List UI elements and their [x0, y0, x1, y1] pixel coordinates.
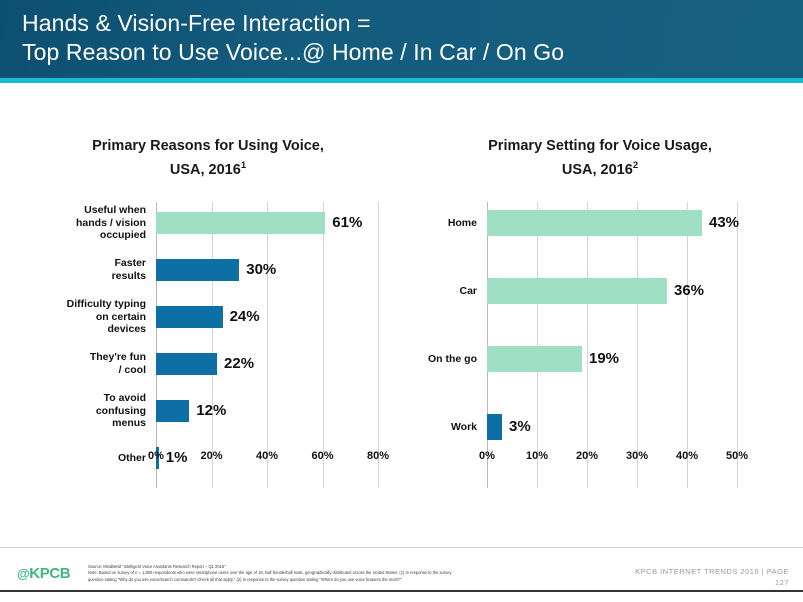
- gridline: [156, 202, 157, 488]
- bar-category-label: On the go: [405, 353, 477, 366]
- chart-title-text: Primary Reasons for Using Voice, USA, 20…: [92, 138, 324, 178]
- plot-area-primary-reasons: Useful when hands / vision occupied61%Fa…: [8, 202, 408, 522]
- x-tick-label: 40%: [256, 450, 278, 462]
- bar-value-label: 3%: [509, 418, 531, 435]
- bar-value-label: 19%: [589, 350, 619, 367]
- bar-category-label: Other: [36, 452, 146, 465]
- chart-title-primary-setting: Primary Setting for Voice Usage, USA, 20…: [404, 118, 796, 180]
- gridline: [378, 202, 379, 488]
- x-tick-label: 40%: [676, 450, 698, 462]
- at-icon: @: [17, 566, 29, 581]
- gridline: [687, 202, 688, 488]
- bar[interactable]: [156, 353, 217, 375]
- bar-category-label: Home: [405, 217, 477, 230]
- bar[interactable]: [156, 400, 189, 422]
- bar-category-label: Faster results: [36, 257, 146, 282]
- note-line-2: question stating "Why do you use voice/s…: [88, 577, 588, 583]
- bar[interactable]: [156, 259, 239, 281]
- bar-value-label: 43%: [709, 214, 739, 231]
- page-title: Hands & Vision-Free Interaction = Top Re…: [22, 9, 564, 67]
- bar-value-label: 61%: [332, 214, 362, 231]
- footer-divider: [0, 547, 803, 548]
- bar-category-label: Car: [405, 285, 477, 298]
- chart-panel-primary-reasons: Primary Reasons for Using Voice, USA, 20…: [8, 118, 408, 522]
- bar-category-label: Difficulty typing on certain devices: [36, 298, 146, 336]
- x-tick-label: 50%: [726, 450, 748, 462]
- bar-category-label: Work: [405, 421, 477, 434]
- bar[interactable]: [487, 346, 582, 372]
- bar[interactable]: [487, 414, 502, 440]
- bar-category-label: To avoid confusing menus: [36, 392, 146, 430]
- gridline: [487, 202, 488, 488]
- footer-bottom-rule: [0, 590, 803, 592]
- bar-value-label: 22%: [224, 355, 254, 372]
- source-notes: Source: MindMeld "Intelligent Voice Assi…: [88, 564, 588, 583]
- bar[interactable]: [156, 306, 223, 328]
- bar-category-label: Useful when hands / vision occupied: [36, 204, 146, 242]
- deck-footer: KPCB INTERNET TRENDS 2016 | PAGE 127: [635, 566, 789, 588]
- gridline: [737, 202, 738, 488]
- bar-value-label: 36%: [674, 282, 704, 299]
- x-tick-label: 30%: [626, 450, 648, 462]
- gridlines-primary-reasons: [8, 202, 408, 488]
- x-tick-label: 20%: [576, 450, 598, 462]
- gridline: [587, 202, 588, 488]
- bar-category-label: They're fun / cool: [36, 351, 146, 376]
- x-tick-label: 0%: [148, 450, 164, 462]
- plot-area-primary-setting: Home43%Car36%On the go19%Work3% 0%10%20%…: [404, 202, 796, 522]
- deck-label: KPCB INTERNET TRENDS 2016 | PAGE: [635, 566, 789, 577]
- chart-title-footnote-marker: 1: [241, 160, 246, 171]
- gridline: [212, 202, 213, 488]
- chart-panel-primary-setting: Primary Setting for Voice Usage, USA, 20…: [404, 118, 796, 522]
- gridline: [323, 202, 324, 488]
- x-tick-label: 80%: [367, 450, 389, 462]
- x-tick-label: 0%: [479, 450, 495, 462]
- chart-title-text: Primary Setting for Voice Usage, USA, 20…: [488, 138, 712, 178]
- gridline: [637, 202, 638, 488]
- bar-value-label: 12%: [196, 402, 226, 419]
- page-number: 127: [635, 577, 789, 588]
- bar[interactable]: [487, 278, 667, 304]
- bar-value-label: 1%: [166, 449, 188, 466]
- kpcb-logo: @KPCB: [17, 565, 70, 582]
- header-accent-rule: [0, 78, 803, 83]
- x-tick-label: 10%: [526, 450, 548, 462]
- chart-title-footnote-marker: 2: [633, 160, 638, 171]
- bar[interactable]: [156, 212, 325, 234]
- slide-header: Hands & Vision-Free Interaction = Top Re…: [0, 0, 803, 78]
- gridline: [537, 202, 538, 488]
- bar-value-label: 24%: [230, 308, 260, 325]
- gridlines-primary-setting: [404, 202, 796, 488]
- bar[interactable]: [487, 210, 702, 236]
- logo-text: KPCB: [29, 565, 70, 582]
- chart-title-primary-reasons: Primary Reasons for Using Voice, USA, 20…: [8, 118, 408, 180]
- x-tick-label: 20%: [200, 450, 222, 462]
- x-tick-label: 60%: [311, 450, 333, 462]
- gridline: [267, 202, 268, 488]
- bar-value-label: 30%: [246, 261, 276, 278]
